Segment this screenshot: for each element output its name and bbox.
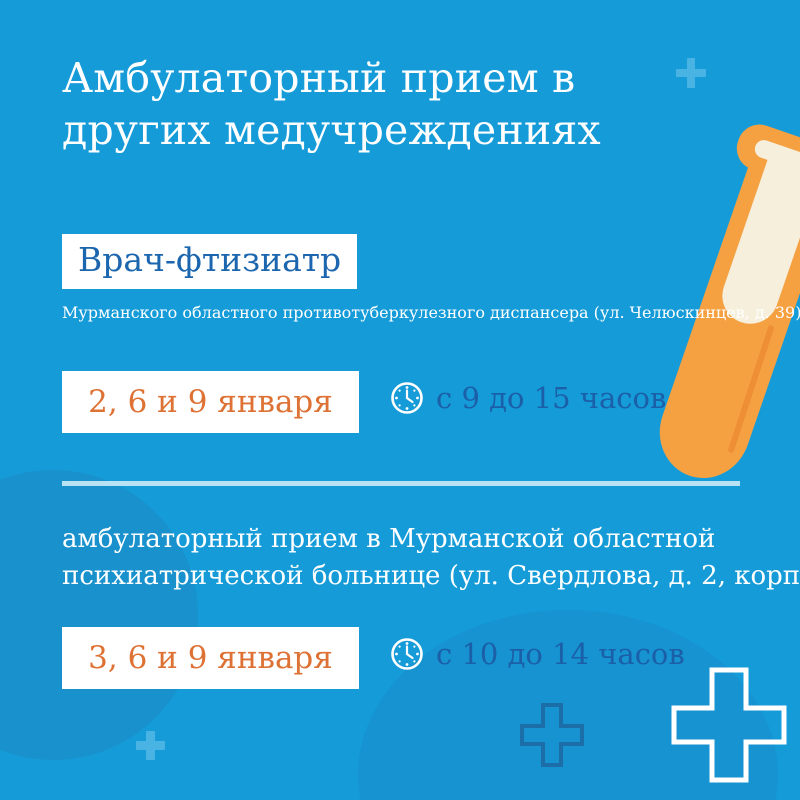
plus-cross-icon-bottom-left xyxy=(136,731,165,760)
date-text-1: 2, 6 и 9 января xyxy=(88,387,333,418)
page-title: Амбулаторный прием в других медучреждени… xyxy=(62,52,682,157)
date-text-2: 3, 6 и 9 января xyxy=(88,643,333,674)
section2-line-1: амбулаторный прием в Мурманской областно… xyxy=(62,521,762,558)
institution-subtitle: Мурманского областного противотуберкулез… xyxy=(62,303,762,322)
hours-text-1: с 9 до 15 часов xyxy=(436,384,666,413)
clock-icon xyxy=(390,381,424,415)
plus-cross-outline-icon-dark xyxy=(519,702,585,768)
date-box-2: 3, 6 и 9 января xyxy=(62,627,359,689)
clock-icon xyxy=(390,637,424,671)
background-blob-left xyxy=(0,470,198,760)
hours-text-2: с 10 до 14 часов xyxy=(436,640,685,669)
section2-description: амбулаторный прием в Мурманской областно… xyxy=(62,521,762,595)
section2-line-2: психиатрической больнице (ул. Свердлова,… xyxy=(62,558,762,595)
time-row-1: с 9 до 15 часов xyxy=(390,381,666,415)
section-divider xyxy=(62,481,740,486)
time-row-2: с 10 до 14 часов xyxy=(390,637,685,671)
poster-canvas: Амбулаторный прием в других медучреждени… xyxy=(0,0,800,800)
plus-cross-outline-icon-white xyxy=(670,666,788,784)
date-box-1: 2, 6 и 9 января xyxy=(62,371,359,433)
status-badge-doctor: Врач-фтизиатр xyxy=(62,234,357,289)
